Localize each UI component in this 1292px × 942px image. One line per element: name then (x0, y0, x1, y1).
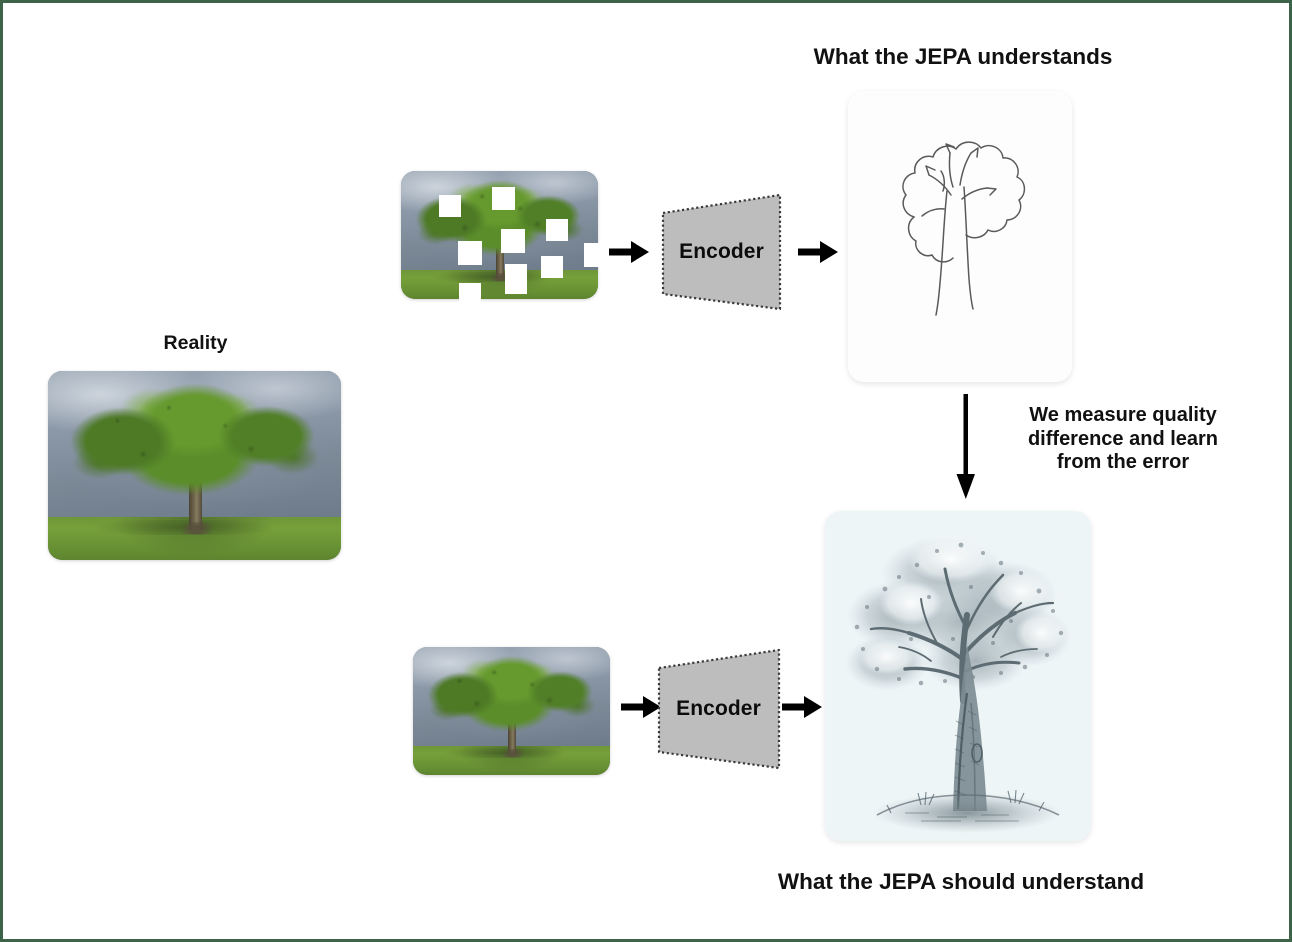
note-measure-quality-difference: We measure quality difference and learn … (1003, 404, 1243, 475)
encoder-top-label: Encoder (658, 193, 785, 311)
mask-patch (541, 256, 563, 278)
mask-patch (458, 241, 482, 265)
simple-sketch-panel (848, 91, 1072, 382)
arrow-right-icon (782, 694, 822, 720)
masked-photo (401, 171, 598, 299)
mask-patch (459, 283, 481, 305)
encoder-bottom[interactable]: Encoder (653, 648, 784, 770)
target-photo-image (413, 647, 610, 775)
arrow-loss-feedback (955, 394, 977, 499)
tree-roots (174, 522, 221, 535)
encoder-bottom-label: Encoder (653, 648, 784, 770)
tree-canopy (66, 382, 324, 511)
arrow-encoder-to-target-understanding (782, 694, 822, 720)
mask-patch (501, 229, 525, 253)
simple-tree-sketch (848, 91, 1072, 382)
diagram-canvas: What the JEPA understands What the JEPA … (0, 0, 1292, 942)
encoder-top[interactable]: Encoder (658, 193, 785, 311)
label-reality: Reality (123, 332, 268, 355)
reality-photo-image (48, 371, 341, 560)
arrow-masked-to-encoder (609, 239, 649, 265)
detailed-sketch-panel (825, 511, 1091, 841)
arrow-right-icon (609, 239, 649, 265)
detailed-tree-sketch (825, 511, 1091, 841)
mask-patch (584, 243, 608, 267)
tree-roots (498, 749, 530, 758)
reality-photo (48, 371, 341, 560)
arrow-down-icon (955, 394, 977, 499)
arrow-encoder-to-understanding (798, 239, 838, 265)
mask-patch (439, 195, 461, 217)
tree-canopy (425, 655, 598, 742)
target-photo (413, 647, 610, 775)
mask-patch (546, 219, 568, 241)
title-what-jepa-understands: What the JEPA understands (798, 44, 1128, 71)
title-what-jepa-should-understand: What the JEPA should understand (746, 869, 1176, 896)
arrow-right-icon (798, 239, 838, 265)
mask-patch (505, 264, 527, 294)
mask-patch (492, 187, 515, 210)
